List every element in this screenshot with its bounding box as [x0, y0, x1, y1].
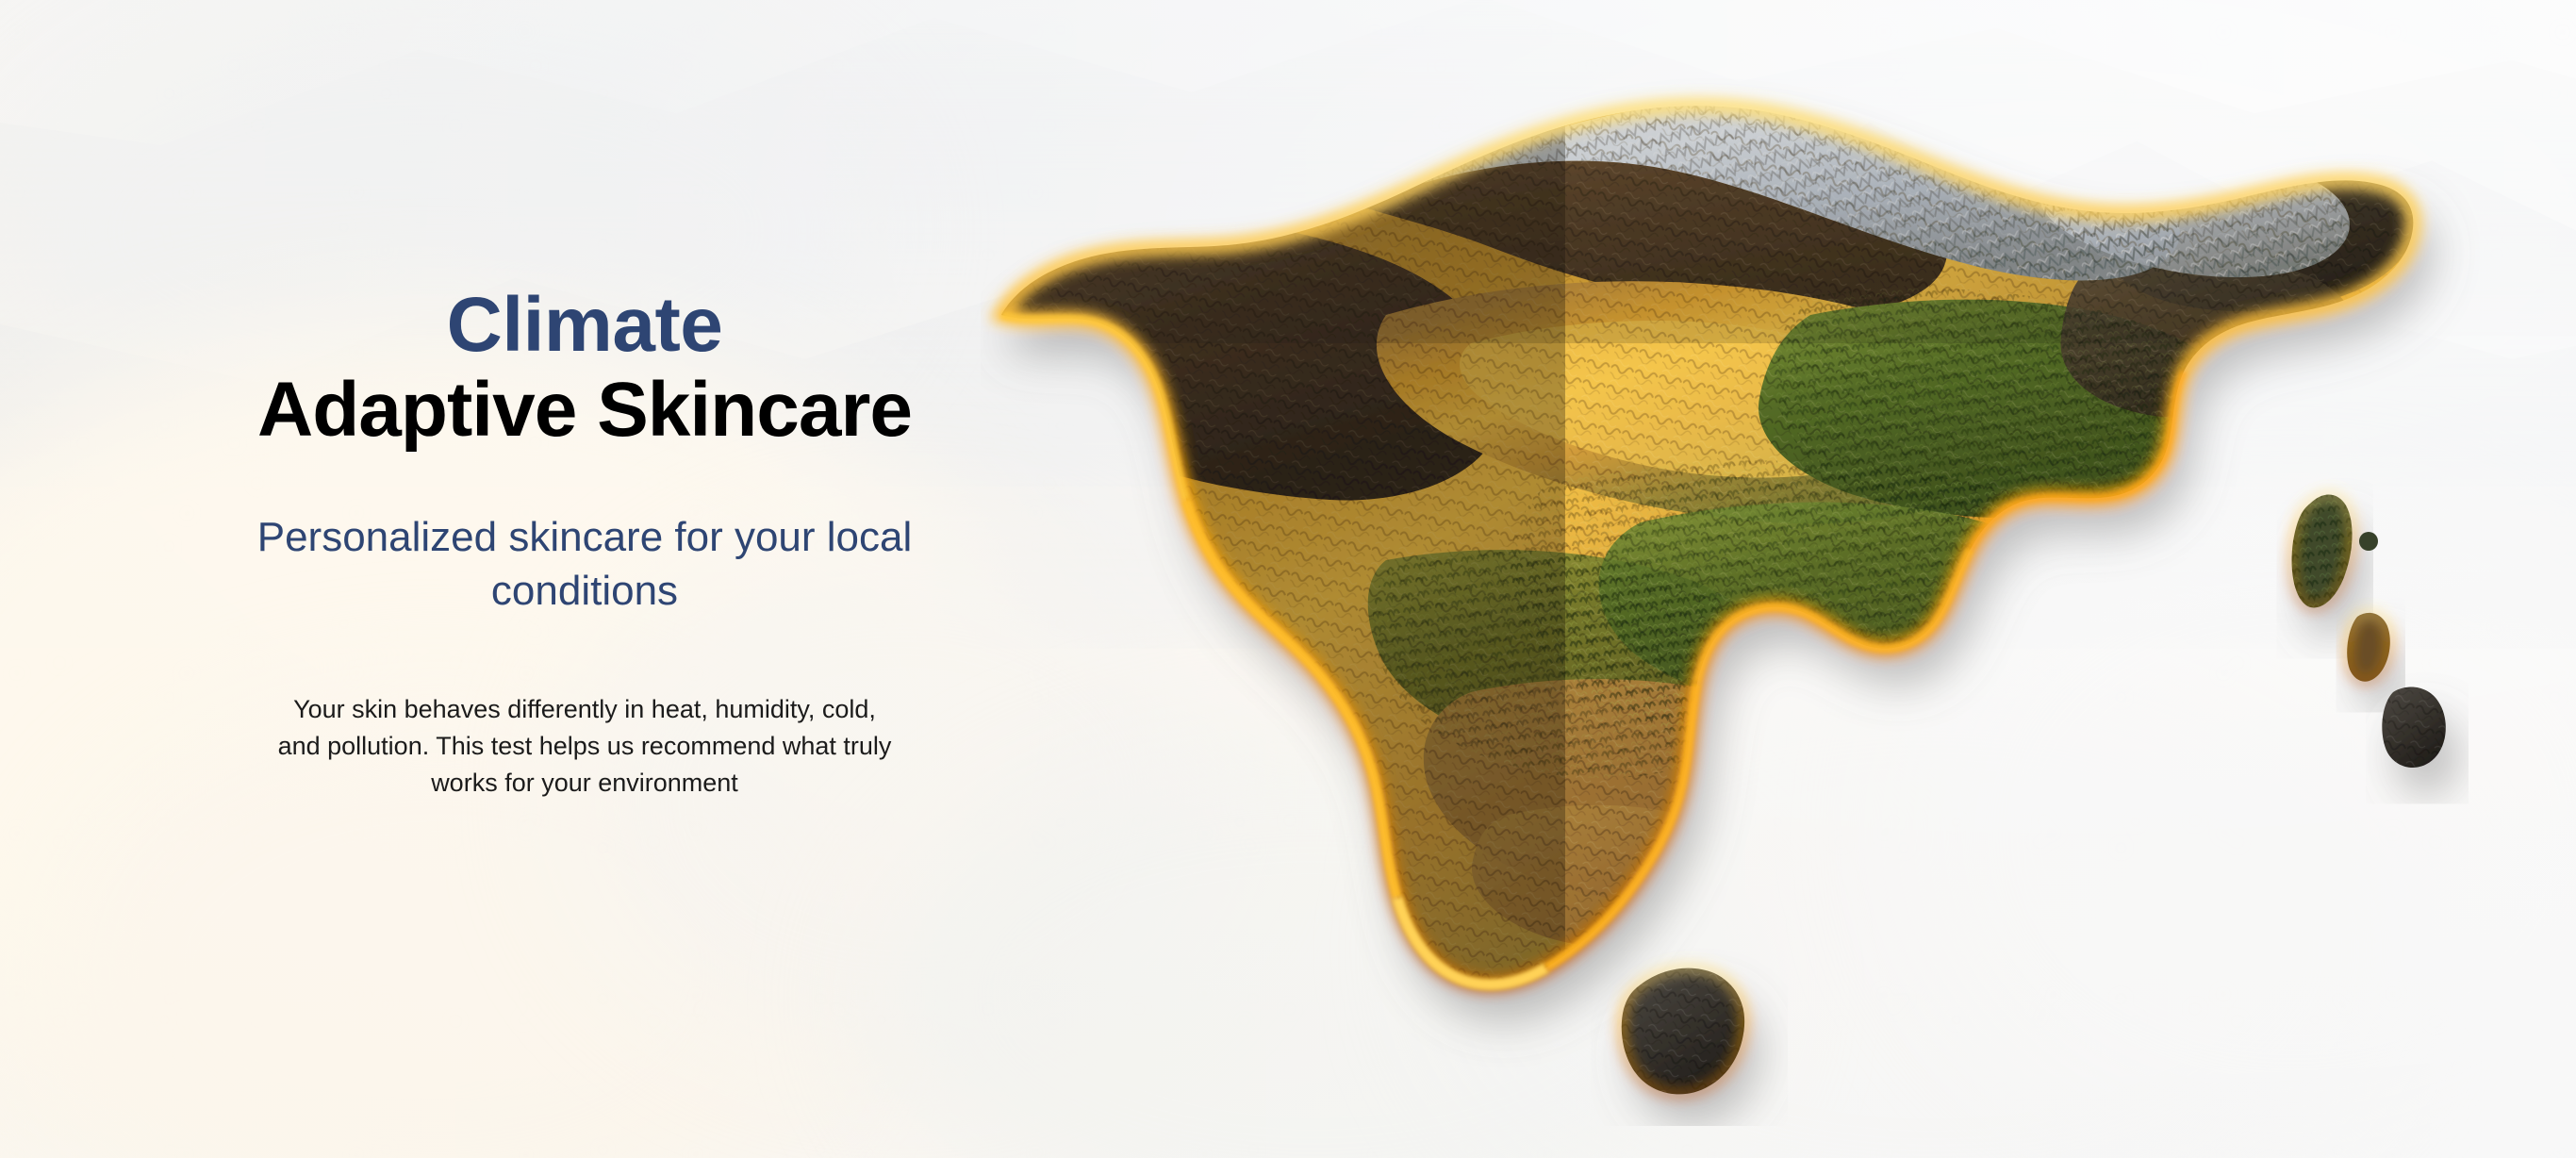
- hero-subtitle: Personalized skincare for your local con…: [255, 510, 915, 618]
- hero-body-text: Your skin behaves differently in heat, h…: [273, 691, 896, 802]
- hero-copy-block: Climate Adaptive Skincare Personalized s…: [0, 0, 1169, 1158]
- page-title-main-line: Adaptive Skincare: [257, 371, 912, 450]
- page-title-accent-line: Climate: [447, 286, 723, 365]
- india-relief-map: [981, 32, 2546, 1126]
- climate-adaptive-skincare-hero: Climate Adaptive Skincare Personalized s…: [0, 0, 2576, 1158]
- andaman-nicobar-islands: [2292, 494, 2446, 768]
- sri-lanka-island: [1622, 968, 1744, 1095]
